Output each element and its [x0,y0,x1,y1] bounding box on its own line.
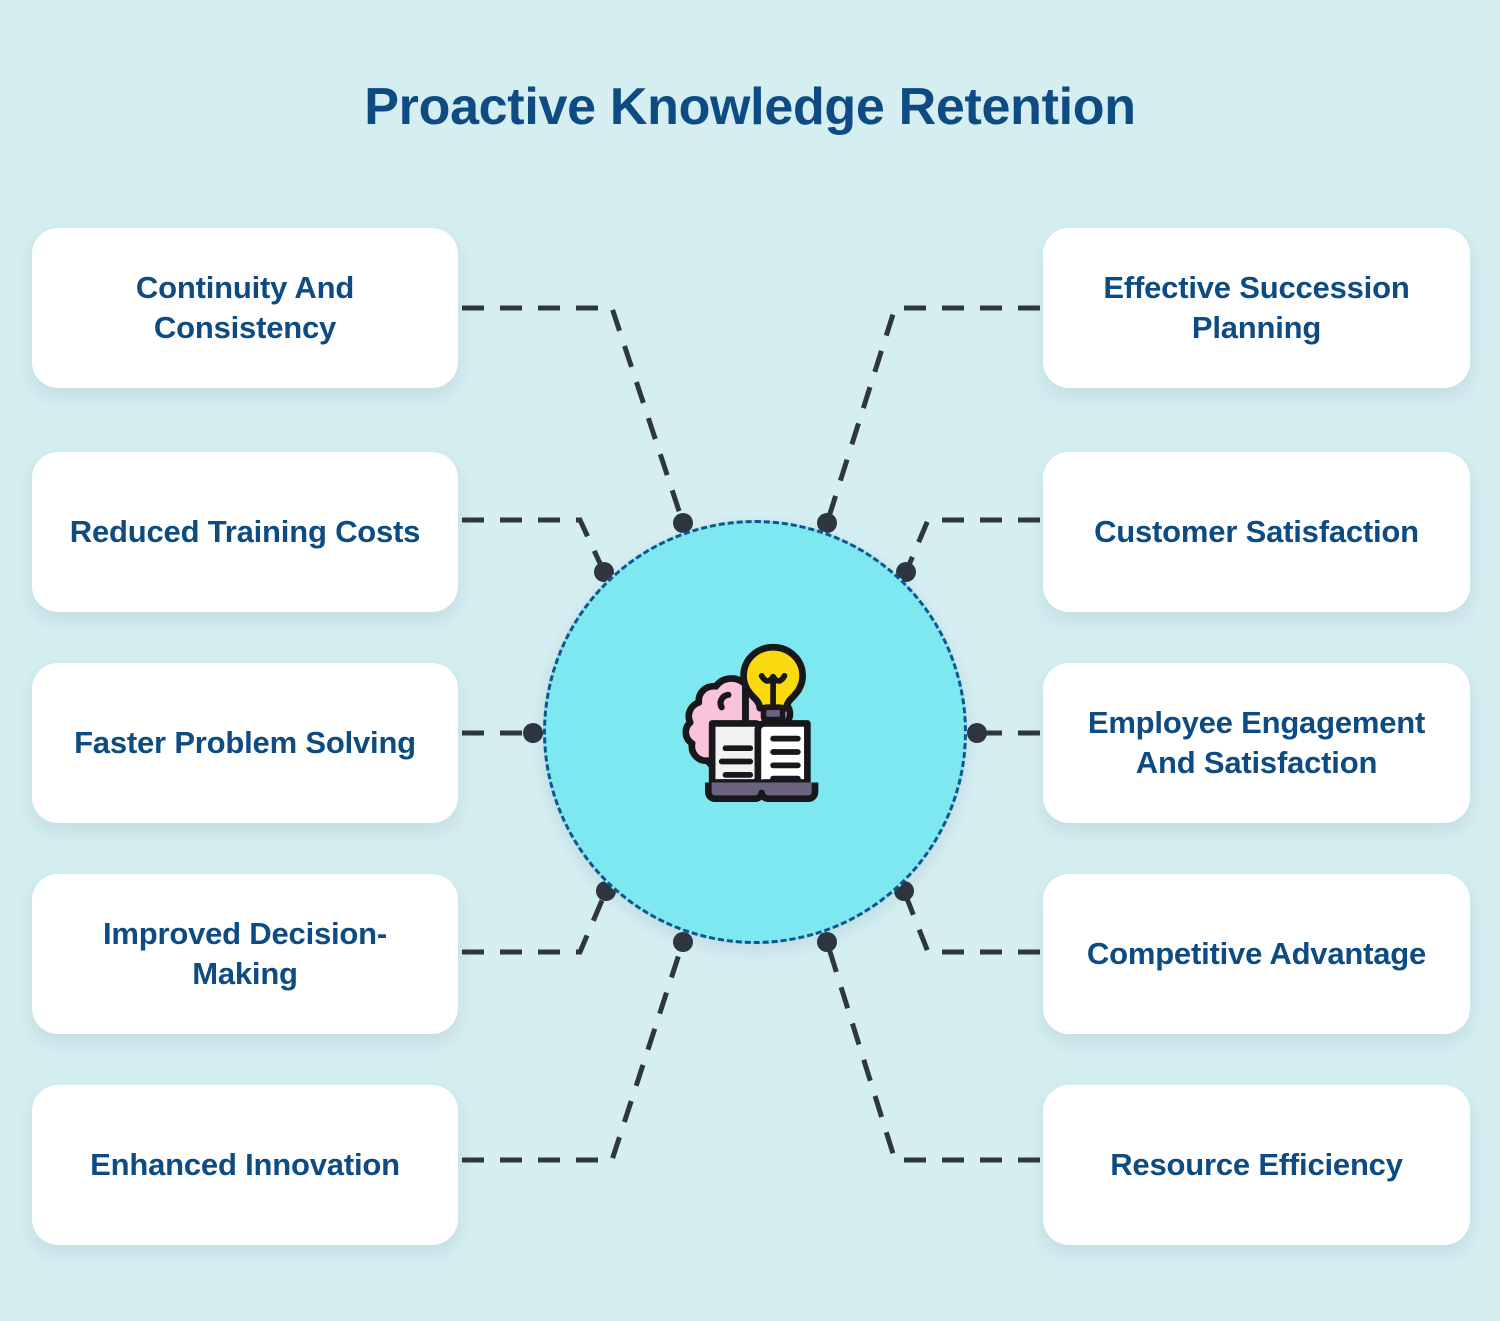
connector-dot-right-5 [817,932,837,952]
connector-right-4 [904,891,1040,952]
benefit-card-label: Resource Efficiency [1110,1145,1403,1185]
connector-right-1 [827,308,1040,523]
open-book-icon [708,723,815,798]
connector-right-2 [906,520,1040,572]
benefit-card-competitive-advantage[interactable]: Competitive Advantage [1043,874,1470,1034]
benefit-card-label: Enhanced Innovation [90,1145,400,1185]
benefit-card-resource-efficiency[interactable]: Resource Efficiency [1043,1085,1470,1245]
benefit-card-label: Faster Problem Solving [74,723,416,763]
benefit-card-enhanced-innovation[interactable]: Enhanced Innovation [32,1085,458,1245]
brain-lightbulb-book-icon [655,632,855,832]
benefit-card-customer-satisfaction[interactable]: Customer Satisfaction [1043,452,1470,612]
connector-right-5 [827,942,1040,1160]
benefit-card-label: Improved Decision-Making [54,914,436,993]
benefit-card-employee-engagement-and-satisfaction[interactable]: Employee Engagement And Satisfaction [1043,663,1470,823]
benefit-card-faster-problem-solving[interactable]: Faster Problem Solving [32,663,458,823]
diagram-canvas: Proactive Knowledge Retention [0,0,1500,1321]
central-hub [543,520,967,944]
page-title: Proactive Knowledge Retention [0,78,1500,138]
benefit-card-continuity-and-consistency[interactable]: Continuity And Consistency [32,228,458,388]
connector-left-2 [462,520,604,572]
connector-dot-left-5 [673,932,693,952]
benefit-card-label: Continuity And Consistency [54,268,436,347]
benefit-card-label: Competitive Advantage [1087,934,1426,974]
connector-left-4 [462,891,606,952]
connector-left-1 [462,308,683,523]
benefit-card-label: Effective Succession Planning [1065,268,1448,347]
benefit-card-reduced-training-costs[interactable]: Reduced Training Costs [32,452,458,612]
benefit-card-label: Reduced Training Costs [70,512,420,552]
benefit-card-effective-succession-planning[interactable]: Effective Succession Planning [1043,228,1470,388]
benefit-card-label: Customer Satisfaction [1094,512,1419,552]
benefit-card-improved-decision-making[interactable]: Improved Decision-Making [32,874,458,1034]
connector-dot-left-3 [523,723,543,743]
connector-left-5 [462,942,683,1160]
benefit-card-label: Employee Engagement And Satisfaction [1065,703,1448,782]
bulb-base [764,707,783,719]
connector-dot-right-3 [967,723,987,743]
